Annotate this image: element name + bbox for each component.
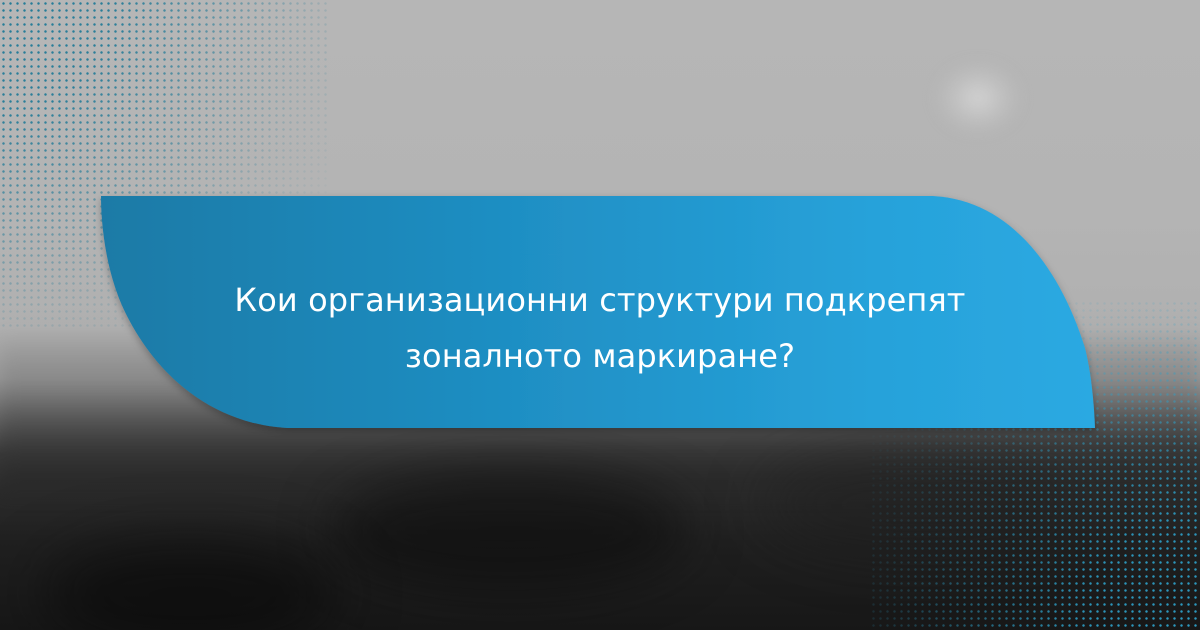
- social-share-card: Кои организационни структури подкрепят з…: [0, 0, 1200, 630]
- headline-text: Кои организационни структури подкрепят з…: [180, 272, 1020, 384]
